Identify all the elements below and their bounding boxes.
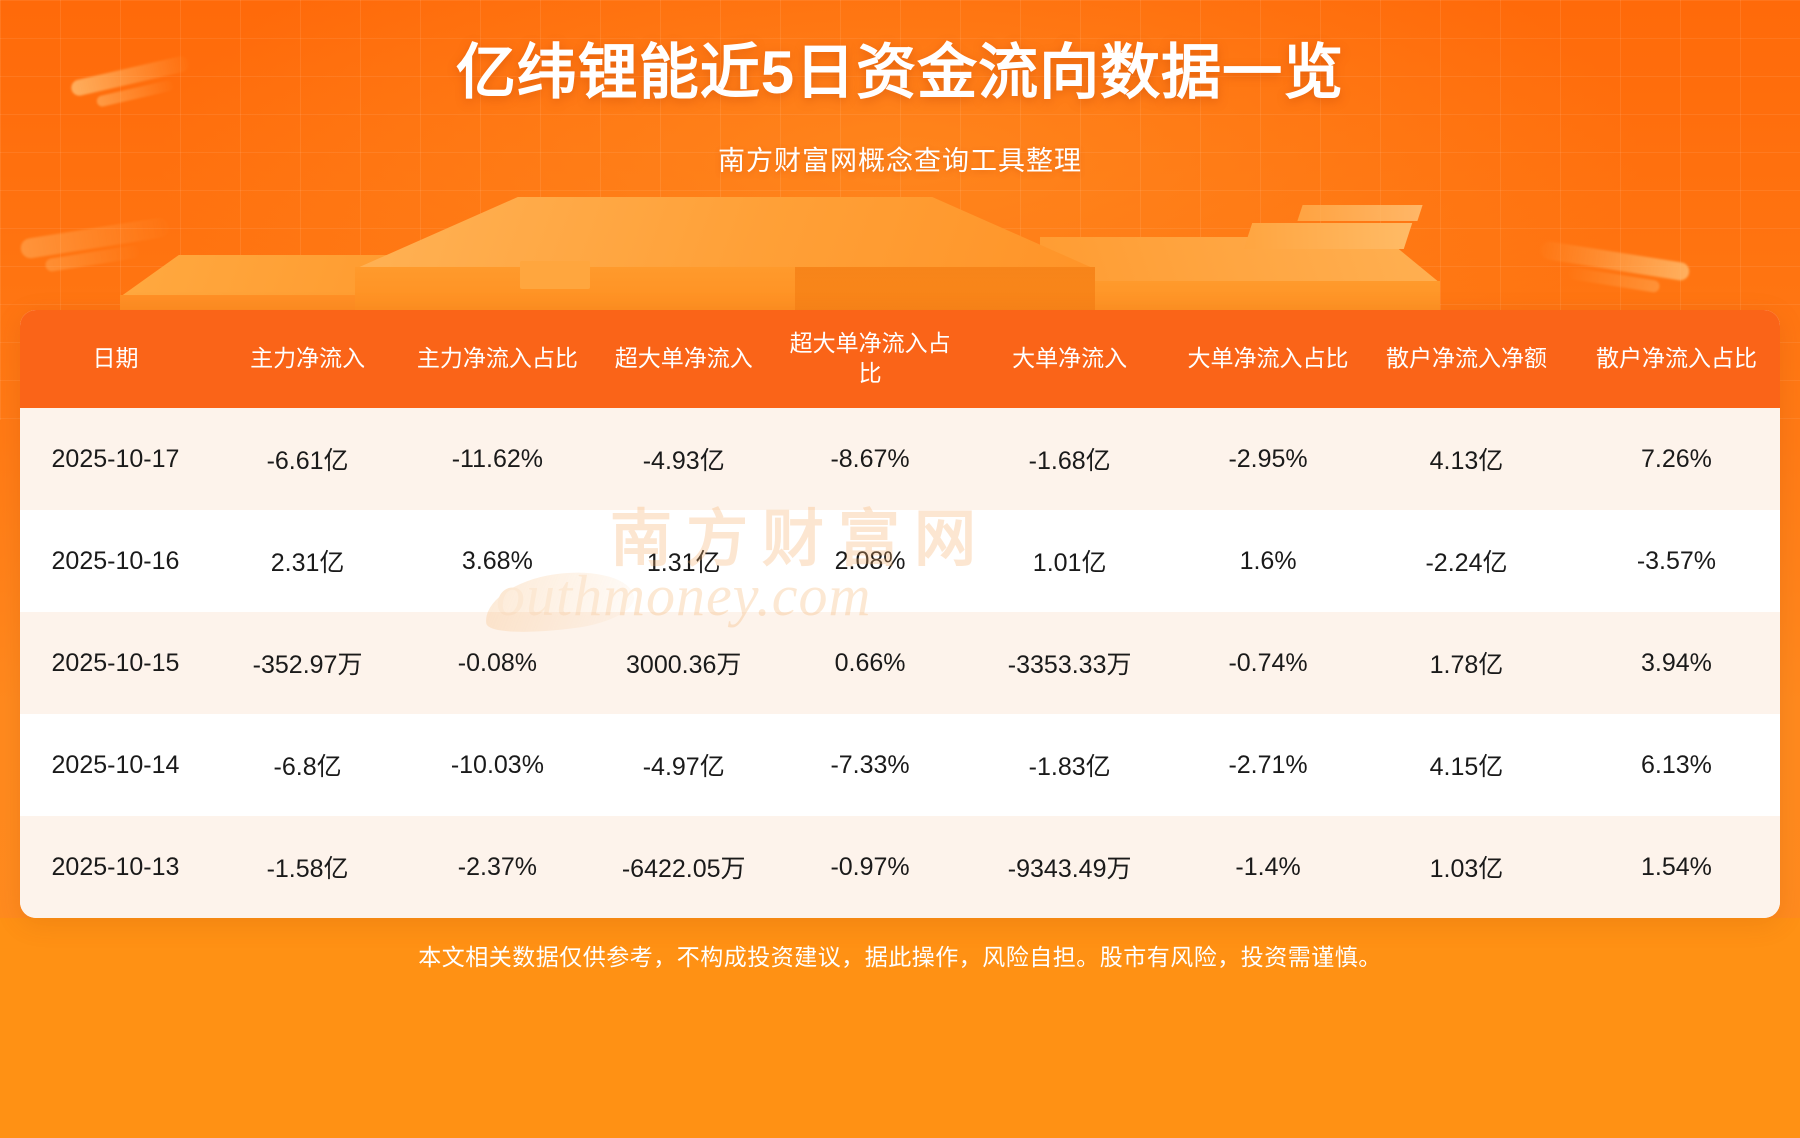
cell-date: 2025-10-13 [20, 816, 211, 918]
cell-super-pct: -8.67% [777, 408, 963, 510]
cell-large-pct: -0.74% [1176, 612, 1360, 714]
cell-main-net: 2.31亿 [211, 510, 404, 612]
cell-main-pct: -11.62% [404, 408, 590, 510]
table-row[interactable]: 2025-10-17 -6.61亿 -11.62% -4.93亿 -8.67% … [20, 408, 1780, 510]
cell-super-net: 3000.36万 [591, 612, 777, 714]
cell-main-net: -6.61亿 [211, 408, 404, 510]
cell-date: 2025-10-17 [20, 408, 211, 510]
cell-date: 2025-10-16 [20, 510, 211, 612]
cell-main-pct: -0.08% [404, 612, 590, 714]
column-header-super-net[interactable]: 超大单净流入 [591, 310, 777, 408]
cell-large-pct: -2.95% [1176, 408, 1360, 510]
table-body: 2025-10-17 -6.61亿 -11.62% -4.93亿 -8.67% … [20, 408, 1780, 918]
column-header-main-pct[interactable]: 主力净流入占比 [404, 310, 590, 408]
cell-retail-pct: 3.94% [1573, 612, 1780, 714]
column-header-retail-pct[interactable]: 散户净流入占比 [1573, 310, 1780, 408]
table-header: 日期 主力净流入 主力净流入占比 超大单净流入 超大单净流入占比 大单净流入 大… [20, 310, 1780, 408]
fund-flow-table: 日期 主力净流入 主力净流入占比 超大单净流入 超大单净流入占比 大单净流入 大… [20, 310, 1780, 918]
cell-large-net: -1.68亿 [963, 408, 1176, 510]
cell-large-net: 1.01亿 [963, 510, 1176, 612]
cell-main-pct: -10.03% [404, 714, 590, 816]
column-header-main-net[interactable]: 主力净流入 [211, 310, 404, 408]
cell-large-net: -9343.49万 [963, 816, 1176, 918]
cell-large-pct: -1.4% [1176, 816, 1360, 918]
column-header-date[interactable]: 日期 [20, 310, 211, 408]
cell-super-net: -4.97亿 [591, 714, 777, 816]
decor-swoosh-icon [1568, 267, 1661, 293]
cell-date: 2025-10-14 [20, 714, 211, 816]
cell-super-pct: -7.33% [777, 714, 963, 816]
cell-super-net: 1.31亿 [591, 510, 777, 612]
cell-retail-net: 1.03亿 [1360, 816, 1573, 918]
column-header-large-pct[interactable]: 大单净流入占比 [1176, 310, 1360, 408]
cell-main-net: -6.8亿 [211, 714, 404, 816]
column-header-large-net[interactable]: 大单净流入 [963, 310, 1176, 408]
column-header-retail-net[interactable]: 散户净流入净额 [1360, 310, 1573, 408]
decor-swoosh-icon [45, 245, 141, 273]
hero-text-block: 亿纬锂能近5日资金流向数据一览 南方财富网概念查询工具整理 [0, 0, 1800, 178]
cell-large-net: -3353.33万 [963, 612, 1176, 714]
column-header-super-pct[interactable]: 超大单净流入占比 [777, 310, 963, 408]
table-header-row: 日期 主力净流入 主力净流入占比 超大单净流入 超大单净流入占比 大单净流入 大… [20, 310, 1780, 408]
cell-large-pct: 1.6% [1176, 510, 1360, 612]
cell-main-net: -352.97万 [211, 612, 404, 714]
data-table-card: 日期 主力净流入 主力净流入占比 超大单净流入 超大单净流入占比 大单净流入 大… [20, 310, 1780, 918]
cell-retail-net: 4.15亿 [1360, 714, 1573, 816]
footer-band: 本文相关数据仅供参考，不构成投资建议，据此操作，风险自担。股市有风险，投资需谨慎… [0, 918, 1800, 1138]
cell-retail-net: 4.13亿 [1360, 408, 1573, 510]
cell-large-pct: -2.71% [1176, 714, 1360, 816]
cell-super-pct: 2.08% [777, 510, 963, 612]
decor-swoosh-icon [1540, 240, 1691, 281]
page-subtitle: 南方财富网概念查询工具整理 [0, 139, 1800, 178]
cell-retail-net: -2.24亿 [1360, 510, 1573, 612]
cell-main-pct: 3.68% [404, 510, 590, 612]
cell-date: 2025-10-15 [20, 612, 211, 714]
page-title: 亿纬锂能近5日资金流向数据一览 [0, 38, 1800, 109]
cell-retail-net: 1.78亿 [1360, 612, 1573, 714]
cell-super-net: -4.93亿 [591, 408, 777, 510]
cell-retail-pct: 7.26% [1573, 408, 1780, 510]
cell-main-pct: -2.37% [404, 816, 590, 918]
page-root: 亿纬锂能近5日资金流向数据一览 南方财富网概念查询工具整理 本文相关数据仅供参考… [0, 0, 1800, 1138]
table-row[interactable]: 2025-10-14 -6.8亿 -10.03% -4.97亿 -7.33% -… [20, 714, 1780, 816]
cell-large-net: -1.83亿 [963, 714, 1176, 816]
cell-main-net: -1.58亿 [211, 816, 404, 918]
table-row[interactable]: 2025-10-15 -352.97万 -0.08% 3000.36万 0.66… [20, 612, 1780, 714]
cell-retail-pct: 1.54% [1573, 816, 1780, 918]
table-row[interactable]: 2025-10-13 -1.58亿 -2.37% -6422.05万 -0.97… [20, 816, 1780, 918]
decor-swoosh-icon [19, 216, 170, 259]
cell-super-net: -6422.05万 [591, 816, 777, 918]
disclaimer-text: 本文相关数据仅供参考，不构成投资建议，据此操作，风险自担。股市有风险，投资需谨慎… [0, 938, 1800, 972]
cell-super-pct: 0.66% [777, 612, 963, 714]
cell-retail-pct: -3.57% [1573, 510, 1780, 612]
table-row[interactable]: 2025-10-16 2.31亿 3.68% 1.31亿 2.08% 1.01亿… [20, 510, 1780, 612]
cell-super-pct: -0.97% [777, 816, 963, 918]
cell-retail-pct: 6.13% [1573, 714, 1780, 816]
